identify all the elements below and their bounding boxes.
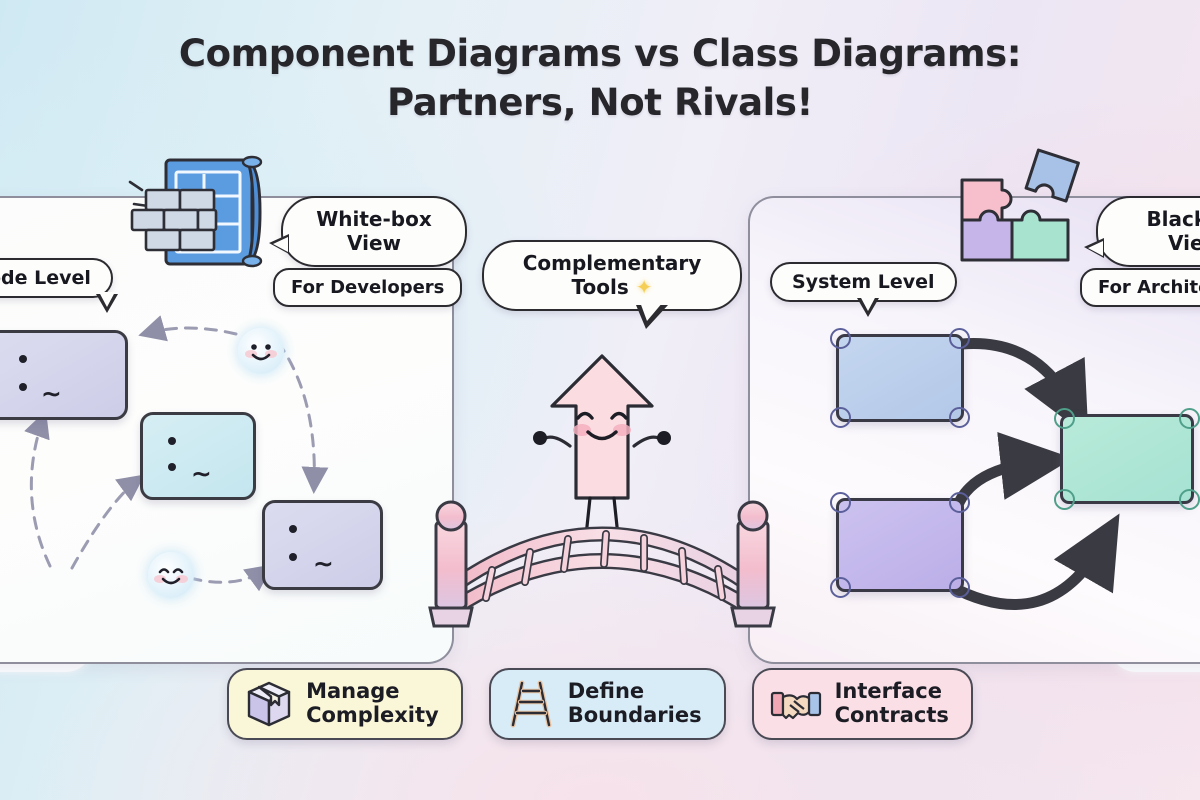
bubble-code-level: ode Level bbox=[0, 258, 113, 298]
bubble-white-box-view: White-box View bbox=[281, 196, 467, 267]
badge-label-line2: Contracts bbox=[835, 704, 949, 728]
badge-label-line1: Manage bbox=[306, 680, 439, 704]
pink-bridge bbox=[424, 466, 780, 632]
package-box-icon bbox=[245, 679, 293, 729]
ladder-icon bbox=[507, 679, 555, 729]
bubble-black-box-line2: View bbox=[1120, 232, 1200, 256]
illustration-canvas: ✦ ✦ Component Diagrams vs Class Diagrams… bbox=[0, 0, 1200, 800]
badge-label-line2: Boundaries bbox=[568, 704, 702, 728]
handshake-icon bbox=[770, 679, 822, 729]
bubble-for-developers-text: For Developers bbox=[291, 277, 444, 298]
takeaway-badges: Manage Complexity Define bbox=[0, 668, 1200, 740]
component-box bbox=[836, 334, 964, 422]
class-box: ∼ bbox=[0, 330, 128, 420]
bubble-code-level-text: ode Level bbox=[0, 267, 91, 289]
title-line-1: Component Diagrams vs Class Diagrams: bbox=[179, 32, 1021, 75]
blueprint-bricks-icon bbox=[118, 144, 270, 276]
bubble-system-level: System Level bbox=[770, 262, 957, 302]
smiley-face-bottom bbox=[148, 552, 194, 598]
component-box bbox=[836, 498, 964, 592]
component-box bbox=[1060, 414, 1194, 504]
page-title: Component Diagrams vs Class Diagrams: Pa… bbox=[0, 30, 1200, 128]
bubble-complementary-line1: Complementary bbox=[506, 252, 718, 276]
badge-label-line1: Define bbox=[568, 680, 702, 704]
badge-label-line1: Interface bbox=[835, 680, 949, 704]
bubble-complementary-line2: Tools bbox=[572, 275, 629, 299]
badge-label-line2: Complexity bbox=[306, 704, 439, 728]
bubble-complementary-tools: Complementary Tools ✦ bbox=[482, 240, 742, 311]
smiley-face-top bbox=[238, 328, 284, 374]
badge-manage-complexity[interactable]: Manage Complexity bbox=[227, 668, 463, 740]
bubble-for-architects: For Archite bbox=[1080, 268, 1200, 307]
class-box: ∼ bbox=[262, 500, 383, 590]
bubble-black-box-line1: Black-bo bbox=[1120, 208, 1200, 232]
bubble-system-level-text: System Level bbox=[792, 271, 935, 293]
bubble-black-box-view: Black-bo View bbox=[1096, 196, 1200, 267]
sparkle-icon: ✦ bbox=[636, 275, 653, 299]
badge-interface-contracts[interactable]: Interface Contracts bbox=[752, 668, 973, 740]
title-line-2: Partners, Not Rivals! bbox=[0, 79, 1200, 128]
puzzle-pieces-icon bbox=[952, 142, 1088, 268]
badge-define-boundaries[interactable]: Define Boundaries bbox=[489, 668, 726, 740]
bubble-white-box-view-text: White-box View bbox=[316, 207, 432, 255]
bubble-for-architects-text: For Archite bbox=[1098, 277, 1200, 298]
class-box: ∼ bbox=[140, 412, 256, 500]
